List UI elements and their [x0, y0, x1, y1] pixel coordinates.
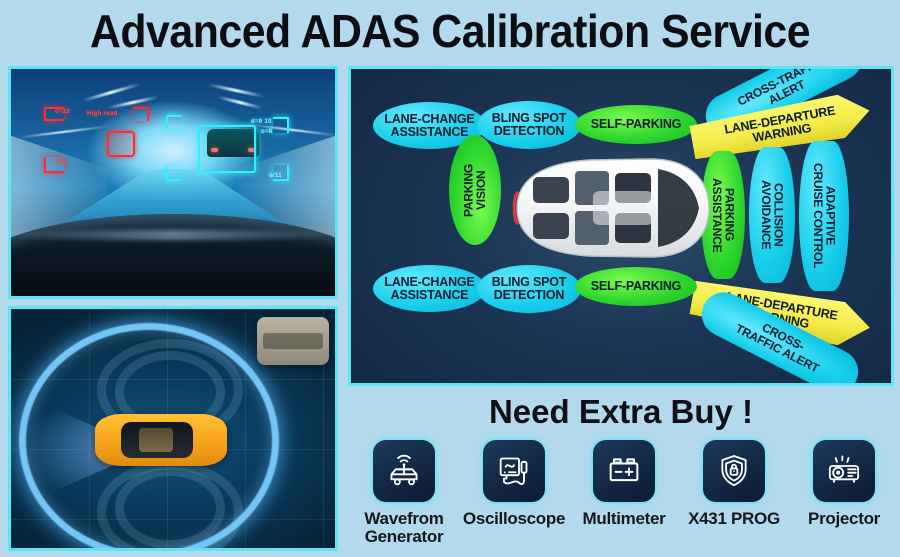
extra-item-projector[interactable]: Projector: [792, 440, 896, 528]
zone-self-parking-top[interactable]: SELF-PARKING: [575, 105, 697, 144]
extra-item-oscilloscope[interactable]: Oscilloscope: [462, 440, 566, 528]
extra-item-multimeter[interactable]: Multimeter: [572, 440, 676, 528]
adas-hud-driving-photo: d=22 High road d/n d=9 10 o=6 o/11: [8, 66, 338, 299]
extra-item-x431-prog[interactable]: X431 PROG: [682, 440, 786, 528]
extras-heading: Need Extra Buy !: [348, 392, 894, 432]
extras-icon-row: Wavefrom Generator Oscilloscope: [352, 440, 896, 553]
extra-item-label: Oscilloscope: [463, 510, 565, 528]
zone-collision-avoidance[interactable]: COLLISION AVOIDANCE: [749, 147, 795, 283]
detection-box-red: [107, 131, 135, 157]
top-down-car-icon: [503, 147, 721, 269]
zone-bling-spot-detection-top[interactable]: BLING SPOT DETECTION: [477, 101, 581, 149]
poster-root: Advanced ADAS Calibration Service d=22 H…: [0, 0, 900, 557]
hud-tag: o/11: [269, 173, 282, 179]
detection-bracket-cyan: [273, 117, 289, 133]
shield-lock-icon[interactable]: [703, 440, 765, 502]
adas-feature-diagram: LANE-CHANGE ASSISTANCE BLING SPOT DETECT…: [348, 66, 894, 386]
car-signal-icon[interactable]: [373, 440, 435, 502]
detection-bracket-cyan: [166, 167, 182, 181]
oscilloscope-icon[interactable]: [483, 440, 545, 502]
zone-self-parking-bottom[interactable]: SELF-PARKING: [575, 267, 697, 306]
diagram-vehicle: [503, 147, 721, 269]
extra-item-label: X431 PROG: [688, 510, 780, 528]
extra-item-label: Wavefrom Generator: [364, 510, 443, 545]
extra-item-label: Multimeter: [583, 510, 666, 528]
zone-parking-vision[interactable]: PARKING VISION: [449, 135, 501, 245]
car-hood: [8, 214, 338, 299]
detection-bracket-red: [133, 107, 149, 121]
hud-tag: d=22: [55, 109, 70, 115]
360-surround-view-photo: [8, 306, 338, 551]
hud-tag: d/n: [56, 159, 66, 165]
hud-tag: High road: [87, 111, 118, 117]
zone-bling-spot-detection-bottom[interactable]: BLING SPOT DETECTION: [477, 265, 581, 313]
extra-item-label: Projector: [808, 510, 880, 528]
hud-tag: o=6: [261, 129, 272, 135]
hud-tag: d=9 10: [251, 119, 272, 125]
zone-lane-change-assistance-bottom[interactable]: LANE-CHANGE ASSISTANCE: [373, 265, 486, 312]
ego-vehicle: [95, 414, 227, 466]
page-title: Advanced ADAS Calibration Service: [32, 2, 869, 62]
detection-bracket-cyan: [166, 115, 182, 129]
parked-vehicle: [257, 317, 329, 365]
battery-icon[interactable]: [593, 440, 655, 502]
extra-item-wavefrom-generator[interactable]: Wavefrom Generator: [352, 440, 456, 545]
zone-adaptive-cruise-control[interactable]: ADAPTIVE CRUISE CONTROL: [799, 141, 849, 291]
projector-icon[interactable]: [813, 440, 875, 502]
detection-box-cyan: [198, 125, 256, 173]
